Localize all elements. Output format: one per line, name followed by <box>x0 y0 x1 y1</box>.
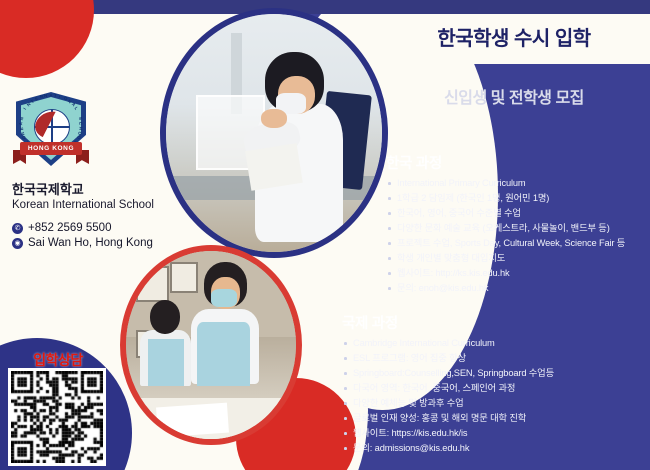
international-course-list: Cambridge International CurriculumESL 프로… <box>342 337 648 455</box>
poster-subheadline: 신입생 및 전학생 모집 <box>378 84 650 108</box>
location-pin-icon: ◉ <box>12 238 23 249</box>
international-course-section: 국제 과정 Cambridge International Curriculum… <box>342 312 648 457</box>
korean-course-section: 한국 과정 International Primary Curriculum1학… <box>386 152 648 297</box>
korean-course-title: 한국 과정 <box>386 152 648 173</box>
science-lab-photo <box>160 8 388 258</box>
list-item: International Primary Curriculum <box>386 177 648 190</box>
korean-course-list: International Primary Curriculum1학급 2 담임… <box>386 177 648 295</box>
list-item: ESL 프로그램: 영어 집중 향상 <box>342 352 648 365</box>
list-item: 프로젝트 수업, Sports Day, Cultural Week, Scie… <box>386 237 648 250</box>
qr-code[interactable] <box>8 368 106 466</box>
contact-block: ✆ +852 2569 5500 ◉ Sai Wan Ho, Hong Kong <box>12 222 242 252</box>
list-item: Springboard:Counselling,SEN, Springboard… <box>342 367 648 380</box>
list-item: 다국어 영역: 한국어, 중국어, 스페인어 과정 <box>342 382 648 395</box>
phone-icon: ✆ <box>12 223 23 234</box>
list-item: 한국어, 영어, 중국어 수준별 수업 <box>386 207 648 220</box>
contact-row-phone: ✆ +852 2569 5500 <box>12 222 242 234</box>
art-class-photo <box>120 245 302 445</box>
top-accent-strip <box>0 0 650 14</box>
list-item: 글로벌 인재 양성: 홍콩 및 해외 명문 대학 진학 <box>342 412 648 425</box>
school-name-korean: 한국국제학교 <box>12 182 212 198</box>
school-logo: KOREAN INTERNATIONAL SCHOOL HONG KONG <box>12 92 90 176</box>
school-name-english: Korean International School <box>12 198 212 213</box>
admissions-poster: KOREAN INTERNATIONAL SCHOOL HONG KONG 한국… <box>0 0 650 470</box>
list-item: 다양한 예체능 및 방과후 수업 <box>342 397 648 410</box>
contact-phone-text: +852 2569 5500 <box>28 222 111 234</box>
list-item: 학생 개인별 맞춤형 대입지도 <box>386 252 648 265</box>
list-item: 문의: admissions@kis.edu.hk <box>342 442 648 455</box>
school-name-block: 한국국제학교 Korean International School <box>12 182 212 213</box>
poster-headline: 한국학생 수시 입학 <box>378 22 650 51</box>
list-item: 1학급 2 담임제 (한국인 1명, 원어민 1명) <box>386 192 648 205</box>
corner-red-circle-decoration <box>0 0 94 78</box>
contact-address-text: Sai Wan Ho, Hong Kong <box>28 237 153 249</box>
list-item: Cambridge International Curriculum <box>342 337 648 350</box>
international-course-title: 국제 과정 <box>342 312 648 333</box>
contact-row-address: ◉ Sai Wan Ho, Hong Kong <box>12 237 242 249</box>
logo-banner-text: HONG KONG <box>20 142 82 155</box>
list-item: 웹사이트: https://kis.edu.hk/is <box>342 427 648 440</box>
list-item: 문의: enoh@kis.edu.hk <box>386 282 648 295</box>
qr-code-label: 입학상담 <box>10 350 106 370</box>
list-item: 다양한 문화 예술 교육 (오케스트라, 사물놀이, 밴드부 등) <box>386 222 648 235</box>
list-item: 웹사이트: http://ks.kis.edu.hk <box>386 267 648 280</box>
